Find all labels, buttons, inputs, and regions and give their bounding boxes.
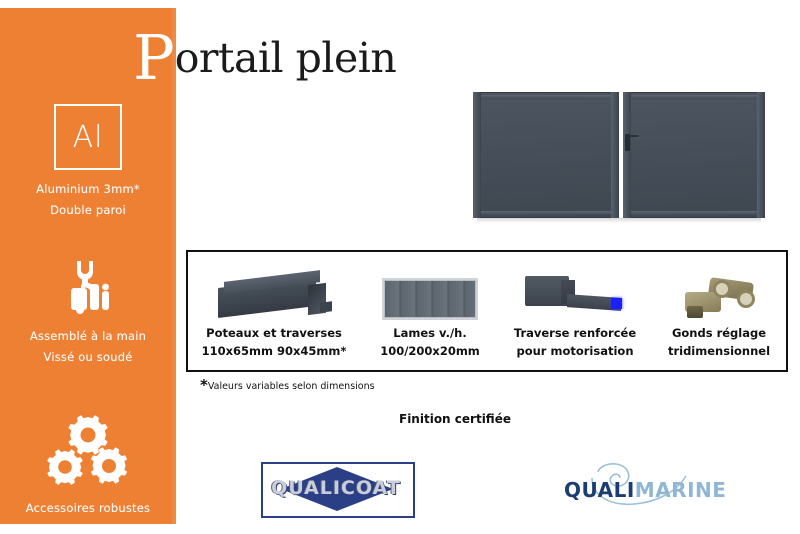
slat-panel-photo [360, 252, 500, 320]
gate-leaf-right [623, 92, 765, 218]
sidebar-feature-assembly-line1: Assemblé à la main [0, 329, 176, 344]
certification-heading: Finition certifiée [0, 410, 800, 428]
page-title: Portail plein [133, 28, 396, 88]
qualimarine-logo: QUALIMARINE [556, 466, 728, 510]
sidebar-feature-aluminium-line1: Aluminium 3mm* [0, 182, 176, 197]
spec-label-hinges: Gonds réglage [650, 326, 788, 340]
page-title-rest: ortail plein [175, 34, 397, 82]
spec-column-hinges: Gonds réglage tridimensionnel [650, 252, 788, 374]
hand-holding-wrench-icon [0, 256, 176, 320]
aluminium-post-profile-photo [190, 252, 358, 320]
adjustable-hinge-photo [650, 252, 788, 320]
page-title-initial: P [133, 21, 175, 94]
spec-value-hinges: tridimensionnel [650, 344, 788, 358]
qualicoat-logo: QUALICOAT [261, 462, 415, 518]
spec-column-crossbar: Traverse renforcée pour motorisation [502, 252, 648, 374]
footnote-marker: * [200, 376, 208, 394]
qualicoat-logo-text: QUALICOAT [263, 464, 409, 512]
spec-label-posts: Poteaux et traverses [190, 326, 358, 340]
reinforced-crossbar-photo [502, 252, 648, 320]
gate-rail-top-left [474, 95, 614, 99]
gate-handle-icon [625, 134, 630, 151]
spec-label-slats: Lames v./h. [360, 326, 500, 340]
spec-value-crossbar: pour motorisation [502, 344, 648, 358]
al-badge-text: Al [73, 120, 104, 155]
spec-value-posts: 110x65mm 90x45mm* [190, 344, 358, 358]
spec-value-slats: 100/200x20mm [360, 344, 500, 358]
spec-box: Poteaux et traverses 110x65mm 90x45mm* L… [186, 250, 788, 372]
gate-post-right [757, 92, 765, 218]
sidebar-feature-accessories: Accessoires robustes [0, 414, 176, 516]
sidebar-feature-aluminium-line2: Double paroi [0, 203, 176, 218]
spec-column-posts: Poteaux et traverses 110x65mm 90x45mm* [190, 252, 358, 374]
product-datasheet-page: Al Aluminium 3mm* Double paroi [0, 0, 800, 534]
gate-leaf-left [473, 92, 615, 218]
qualimarine-text-marine: MARINE [635, 478, 727, 502]
sidebar-feature-aluminium: Al Aluminium 3mm* Double paroi [0, 104, 176, 218]
footnote-text: Valeurs variables selon dimensions [208, 381, 375, 392]
spec-column-slats: Lames v./h. 100/200x20mm [360, 252, 500, 374]
sidebar-feature-assembly: Assemblé à la main Vissé ou soudé [0, 256, 176, 365]
double-swing-gate-photo [473, 92, 765, 218]
spec-label-crossbar: Traverse renforcée [502, 326, 648, 340]
gate-stile-center-left [611, 92, 619, 218]
gate-rail-top-right [624, 95, 764, 99]
gate-post-left [473, 92, 481, 218]
sidebar-feature-assembly-line2: Vissé ou soudé [0, 350, 176, 365]
qualimarine-text-quali: QUALI [564, 478, 635, 502]
gate-rail-bottom-right [624, 211, 764, 215]
gate-stile-center-right [623, 92, 631, 218]
aluminium-al-box-icon: Al [54, 104, 122, 170]
certification-heading-text: Finition certifiée [399, 412, 511, 426]
gate-ground-shadow [477, 218, 761, 223]
sidebar-feature-accessories-line1: Accessoires robustes [0, 501, 176, 516]
gate-rail-bottom-left [474, 211, 614, 215]
qualimarine-logo-text: QUALIMARINE [564, 480, 726, 500]
footnote: *Valeurs variables selon dimensions [200, 379, 375, 397]
